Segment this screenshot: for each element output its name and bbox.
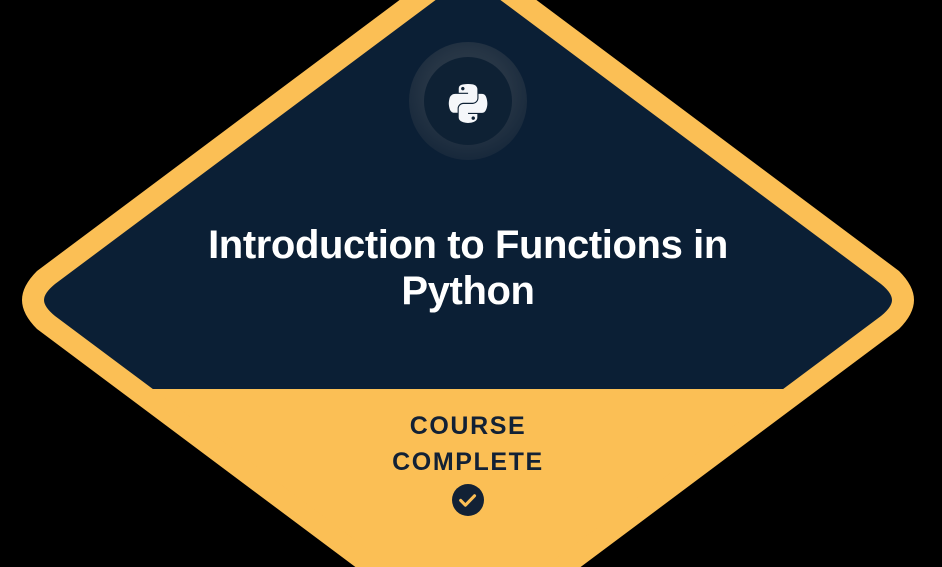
check-circle-background [452,484,484,516]
course-completion-badge: Introduction to Functions in Python COUR… [0,0,942,567]
check-circle-icon [452,484,484,516]
orange-banner [0,389,942,567]
badge-inner-panel [0,0,942,567]
badge-graphic [0,0,942,567]
